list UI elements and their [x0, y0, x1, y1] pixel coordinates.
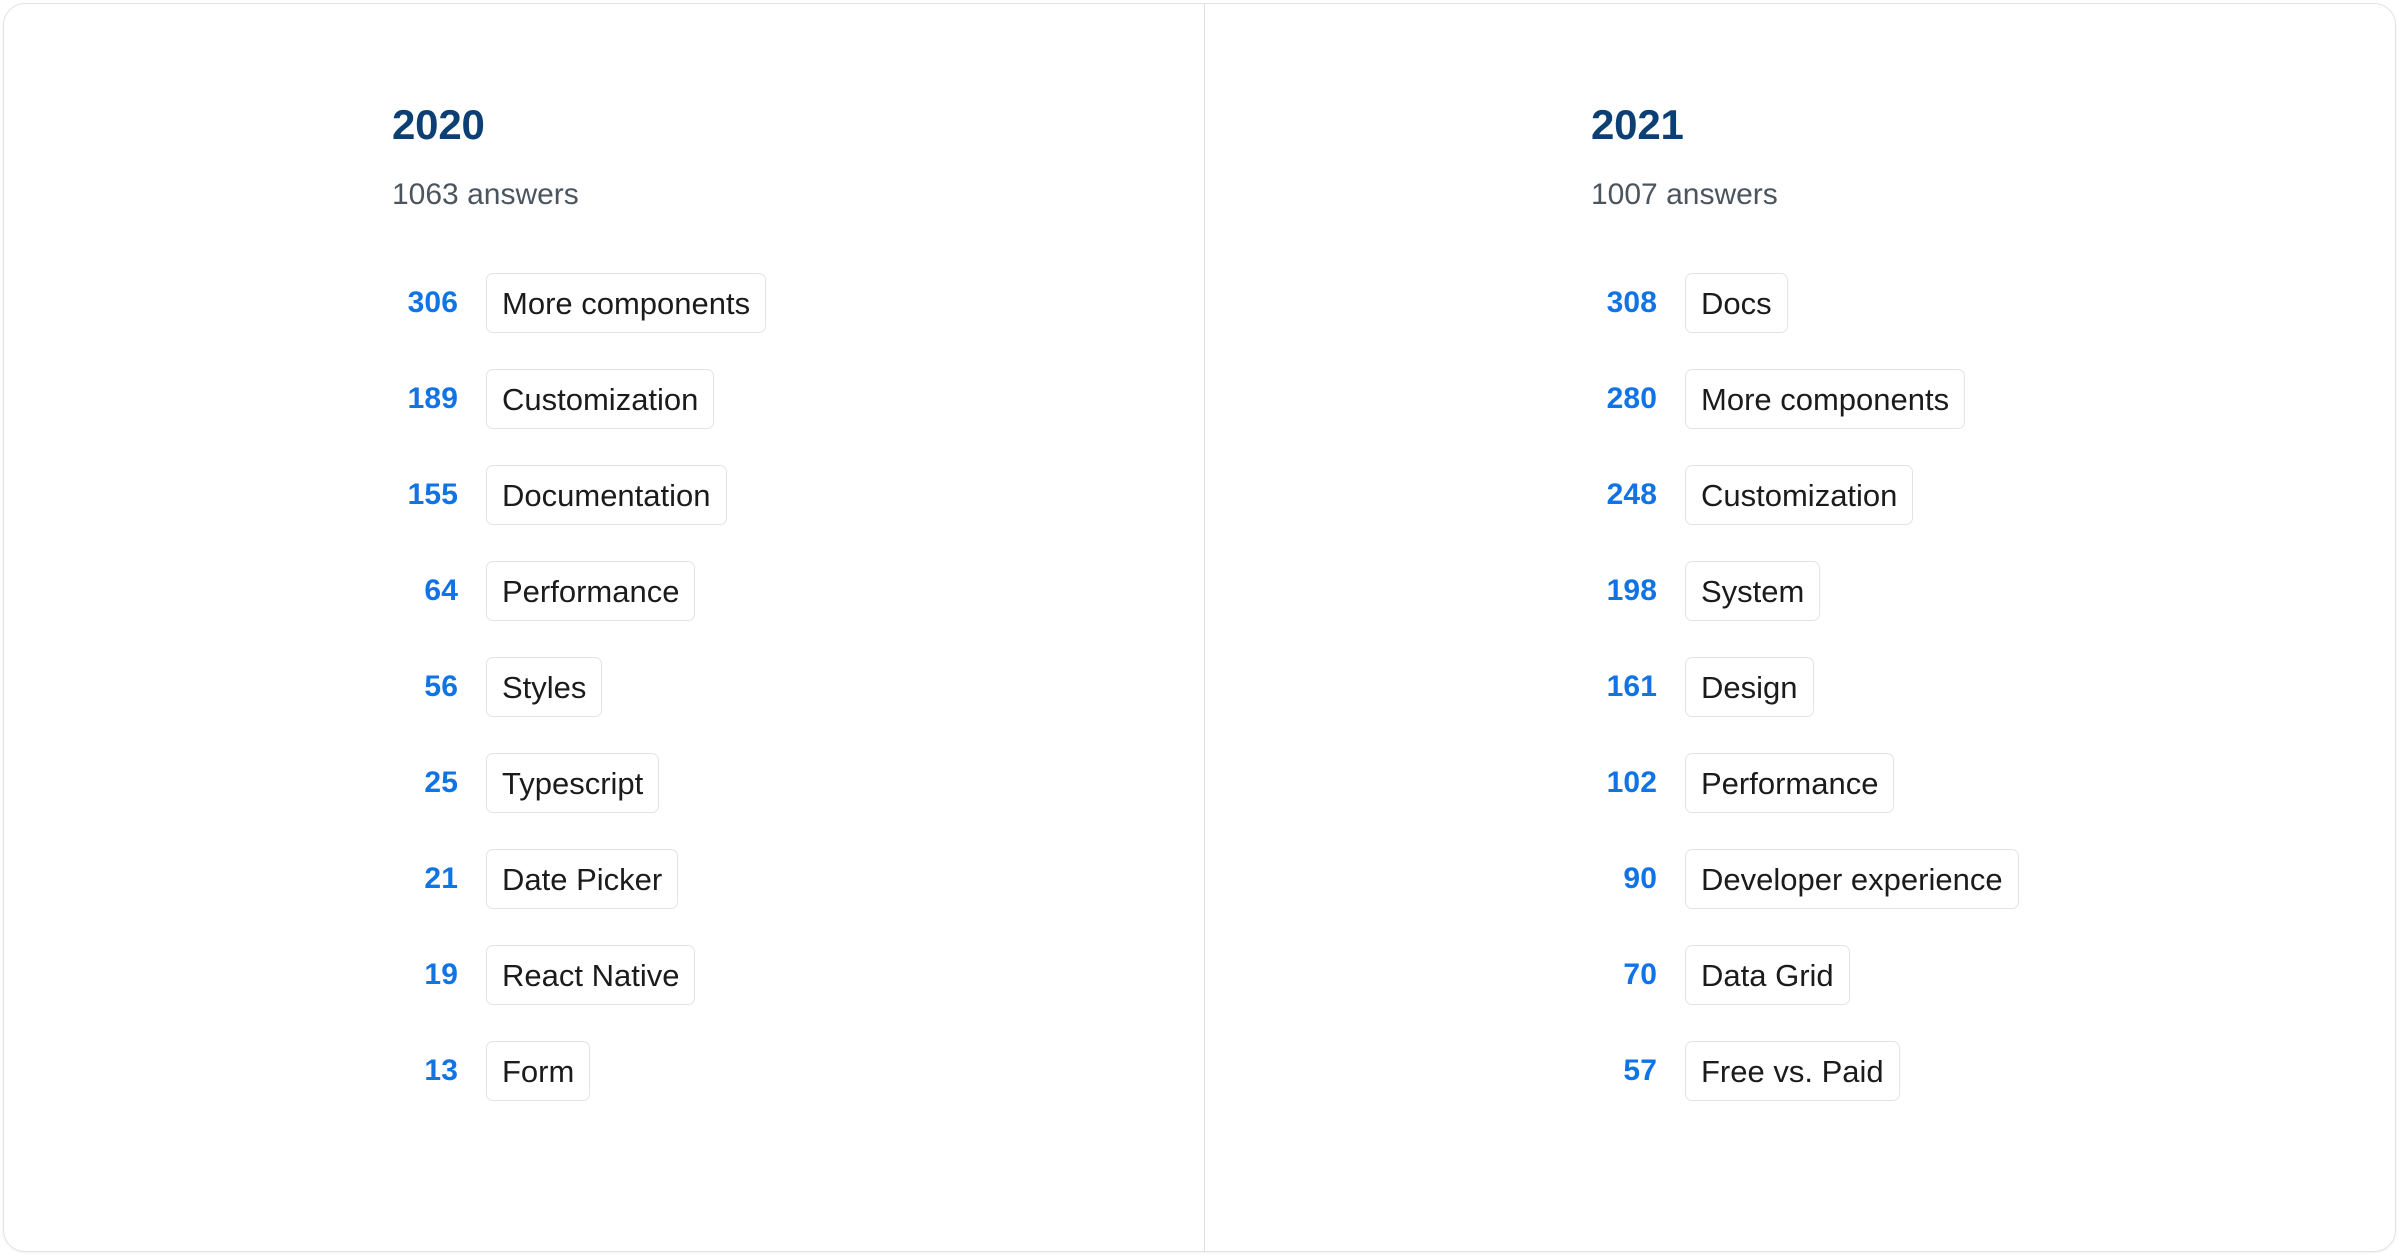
results-card: 2020 1063 answers 306 More components 18…	[3, 3, 2396, 1252]
year-title-2020: 2020	[392, 104, 1180, 146]
row-label-chip[interactable]: Data Grid	[1685, 945, 1850, 1005]
row-count: 25	[392, 768, 458, 798]
answer-list-2021: 308 Docs 280 More components 248 Customi…	[1591, 255, 2380, 1119]
list-item[interactable]: 57 Free vs. Paid	[1591, 1023, 2380, 1119]
list-item[interactable]: 102 Performance	[1591, 735, 2380, 831]
row-count: 19	[392, 960, 458, 990]
row-count: 102	[1591, 768, 1657, 798]
year-comparison-columns: 2020 1063 answers 306 More components 18…	[4, 4, 2395, 1251]
row-label-chip[interactable]: Date Picker	[486, 849, 678, 909]
list-item[interactable]: 280 More components	[1591, 351, 2380, 447]
list-item[interactable]: 70 Data Grid	[1591, 927, 2380, 1023]
list-item[interactable]: 25 Typescript	[392, 735, 1180, 831]
year-panel-2020: 2020 1063 answers 306 More components 18…	[4, 4, 1204, 1251]
answer-list-2020: 306 More components 189 Customization 15…	[392, 255, 1180, 1119]
row-label-chip[interactable]: Customization	[486, 369, 714, 429]
row-count: 306	[392, 288, 458, 318]
row-label-chip[interactable]: Typescript	[486, 753, 659, 813]
row-count: 161	[1591, 672, 1657, 702]
row-count: 90	[1591, 864, 1657, 894]
page-root: 2020 1063 answers 306 More components 18…	[0, 0, 2400, 1256]
row-label-chip[interactable]: Performance	[486, 561, 695, 621]
row-label-chip[interactable]: More components	[486, 273, 766, 333]
row-label-chip[interactable]: Docs	[1685, 273, 1788, 333]
row-label-chip[interactable]: Free vs. Paid	[1685, 1041, 1900, 1101]
list-item[interactable]: 198 System	[1591, 543, 2380, 639]
row-count: 57	[1591, 1056, 1657, 1086]
list-item[interactable]: 161 Design	[1591, 639, 2380, 735]
row-count: 189	[392, 384, 458, 414]
row-label-chip[interactable]: Form	[486, 1041, 590, 1101]
year-panel-2021: 2021 1007 answers 308 Docs 280 More comp…	[1204, 4, 2396, 1251]
row-label-chip[interactable]: More components	[1685, 369, 1965, 429]
row-count: 198	[1591, 576, 1657, 606]
answers-count-2021: 1007 answers	[1591, 180, 2380, 210]
row-count: 155	[392, 480, 458, 510]
row-label-chip[interactable]: Developer experience	[1685, 849, 2019, 909]
list-item[interactable]: 306 More components	[392, 255, 1180, 351]
row-label-chip[interactable]: Design	[1685, 657, 1814, 717]
row-label-chip[interactable]: Styles	[486, 657, 602, 717]
row-count: 70	[1591, 960, 1657, 990]
row-count: 280	[1591, 384, 1657, 414]
list-item[interactable]: 64 Performance	[392, 543, 1180, 639]
row-count: 21	[392, 864, 458, 894]
row-count: 13	[392, 1056, 458, 1086]
list-item[interactable]: 308 Docs	[1591, 255, 2380, 351]
year-title-2021: 2021	[1591, 104, 2380, 146]
row-count: 64	[392, 576, 458, 606]
answers-count-2020: 1063 answers	[392, 180, 1180, 210]
row-count: 248	[1591, 480, 1657, 510]
list-item[interactable]: 248 Customization	[1591, 447, 2380, 543]
list-item[interactable]: 189 Customization	[392, 351, 1180, 447]
row-label-chip[interactable]: React Native	[486, 945, 695, 1005]
list-item[interactable]: 19 React Native	[392, 927, 1180, 1023]
list-item[interactable]: 21 Date Picker	[392, 831, 1180, 927]
row-label-chip[interactable]: System	[1685, 561, 1820, 621]
row-label-chip[interactable]: Customization	[1685, 465, 1913, 525]
row-count: 308	[1591, 288, 1657, 318]
list-item[interactable]: 155 Documentation	[392, 447, 1180, 543]
row-count: 56	[392, 672, 458, 702]
row-label-chip[interactable]: Documentation	[486, 465, 727, 525]
list-item[interactable]: 56 Styles	[392, 639, 1180, 735]
list-item[interactable]: 90 Developer experience	[1591, 831, 2380, 927]
row-label-chip[interactable]: Performance	[1685, 753, 1894, 813]
list-item[interactable]: 13 Form	[392, 1023, 1180, 1119]
